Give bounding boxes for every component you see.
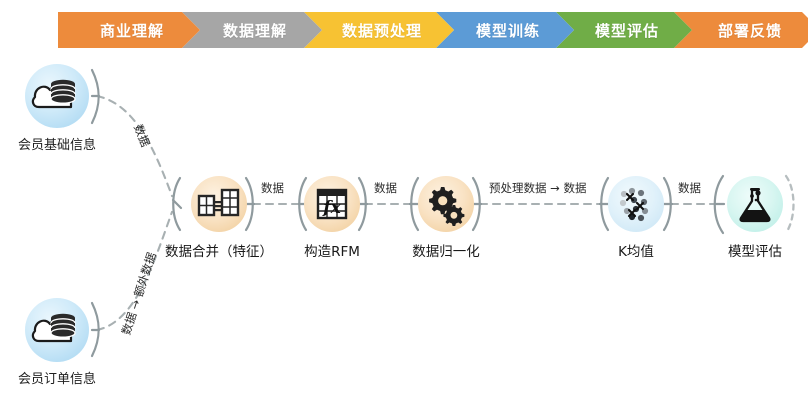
- process-stage-6[interactable]: 部署反馈: [674, 12, 808, 48]
- node-label: 数据合并（特征）: [165, 240, 273, 260]
- process-stage-3[interactable]: 数据预处理: [304, 12, 454, 48]
- process-stage-label: 数据理解: [217, 20, 287, 41]
- pipeline-node-build-rfm[interactable]: fx 构造RFM: [304, 176, 360, 232]
- edge-label-basic-to-merge: 数据: [130, 122, 153, 149]
- node-label: 模型评估: [728, 240, 782, 260]
- pipeline-node-model-evaluation[interactable]: 模型评估: [727, 176, 783, 232]
- process-stage-label: 模型训练: [470, 20, 540, 41]
- edge-path-basic-to-merge: [97, 96, 172, 196]
- cloud-database-icon: [25, 298, 89, 362]
- diagram-canvas: 商业理解数据理解数据预处理模型训练模型评估部署反馈: [0, 0, 808, 400]
- source-node-member-basic-info[interactable]: 会员基础信息: [25, 64, 89, 128]
- process-stage-5[interactable]: 模型评估: [556, 12, 692, 48]
- cloud-database-icon: [25, 64, 89, 128]
- node-label: 数据归一化: [412, 240, 480, 260]
- pipeline-node-k-means[interactable]: K均值: [608, 176, 664, 232]
- edge-label-kmeans-to-eval: 数据: [678, 180, 701, 196]
- formula-spreadsheet-icon: fx: [304, 176, 360, 232]
- source-node-label: 会员基础信息: [18, 134, 96, 153]
- node-label: 构造RFM: [304, 240, 360, 260]
- process-stage-label: 部署反馈: [712, 20, 782, 41]
- process-stage-label: 商业理解: [94, 20, 164, 41]
- node-label: K均值: [618, 240, 654, 260]
- join-tables-icon: [191, 176, 247, 232]
- svg-text:fx: fx: [322, 198, 341, 218]
- edge-label-rfm-to-normalize: 数据: [374, 180, 397, 196]
- trailing-dashed-arc: [786, 176, 794, 233]
- edge-label-merge-to-rfm: 数据: [261, 180, 284, 196]
- pipeline-node-data-normalize[interactable]: 数据归一化: [418, 176, 474, 232]
- process-stage-label: 模型评估: [589, 20, 659, 41]
- cluster-scatter-icon: [608, 176, 664, 232]
- process-stage-4[interactable]: 模型训练: [436, 12, 574, 48]
- edge-label-normalize-to-kmeans: 预处理数据 → 数据: [489, 180, 586, 196]
- pipeline-node-data-merge[interactable]: 数据合并（特征）: [191, 176, 247, 232]
- process-stage-label: 数据预处理: [336, 20, 422, 41]
- gears-icon: [418, 176, 474, 232]
- flask-icon: [727, 176, 783, 232]
- process-stage-2[interactable]: 数据理解: [182, 12, 322, 48]
- edge-label-order-to-merge: 数据 → 额外数据: [118, 250, 160, 337]
- crisp-dm-process-banner: 商业理解数据理解数据预处理模型训练模型评估部署反馈: [58, 12, 786, 48]
- process-stage-1[interactable]: 商业理解: [58, 12, 200, 48]
- connector-layer: [0, 0, 808, 400]
- source-node-label: 会员订单信息: [18, 368, 96, 387]
- source-node-member-order-info[interactable]: 会员订单信息: [25, 298, 89, 362]
